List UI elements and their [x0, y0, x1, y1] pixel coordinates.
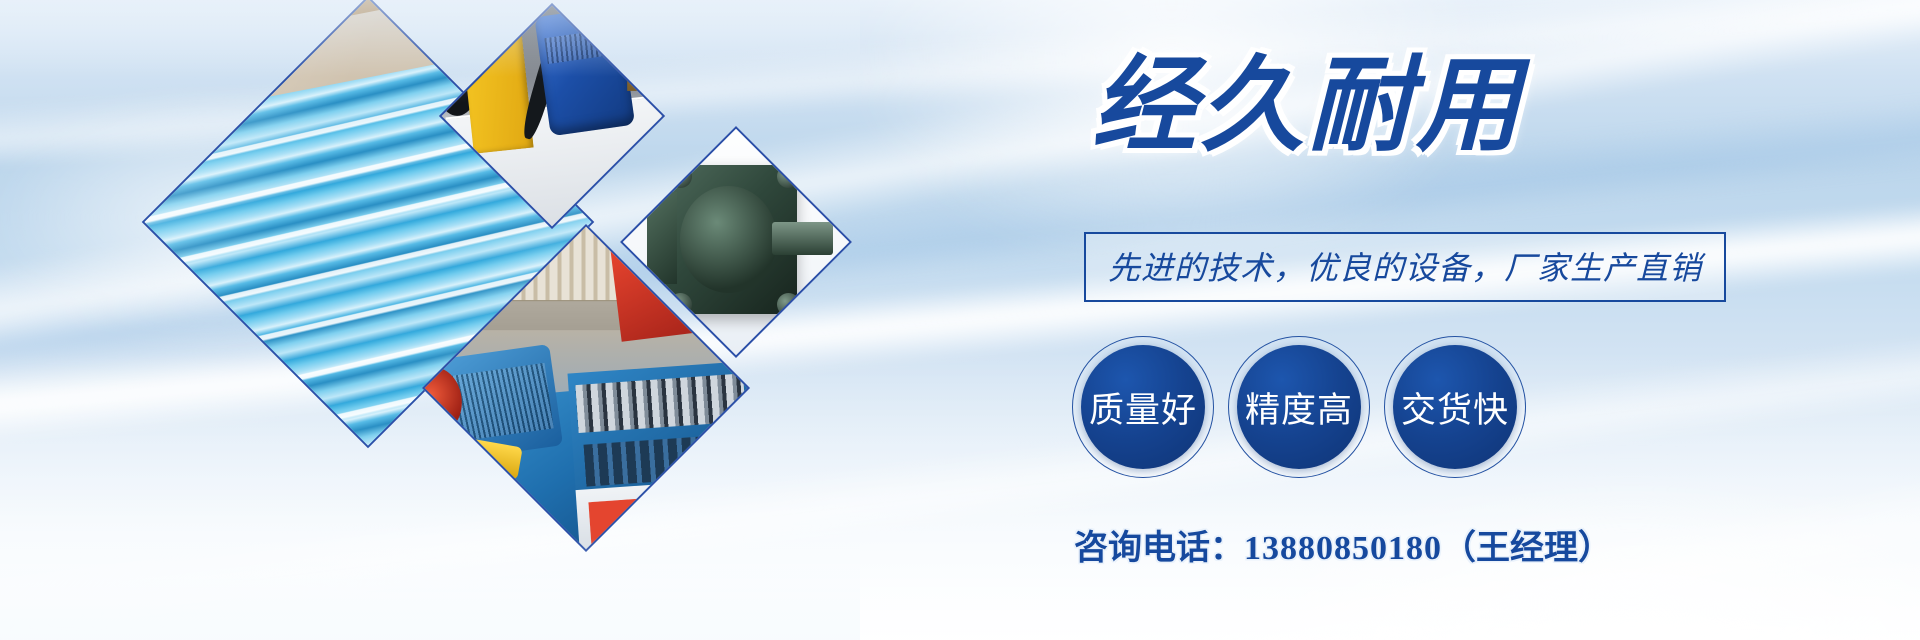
- pump-bolt: [777, 165, 800, 188]
- feature-badge-label: 质量好: [1089, 382, 1197, 433]
- diamond-photo-collage: [0, 0, 860, 640]
- yellow-safety-guard: [461, 23, 534, 153]
- subtitle-box: 先进的技术，优良的设备，厂家生产直销: [1084, 232, 1726, 302]
- feature-badge-delivery[interactable]: 交货快: [1384, 336, 1526, 478]
- gauge-panel: [576, 476, 750, 552]
- feature-badge-precision[interactable]: 精度高: [1228, 336, 1370, 478]
- pump-bolt: [777, 293, 800, 316]
- contact-phone-line: 咨询电话：13880850180（王经理）: [1074, 520, 1612, 569]
- subtitle-text: 先进的技术，优良的设备，厂家生产直销: [1108, 243, 1702, 289]
- control-panel: [627, 6, 665, 91]
- blue-electric-motor: [534, 6, 635, 136]
- banner-content: 经久耐用 先进的技术，优良的设备，厂家生产直销 质量好 精度高 交货快: [1060, 0, 1840, 640]
- headline-title: 经久耐用: [1092, 48, 1524, 164]
- pump-drive-shaft: [772, 222, 833, 255]
- feature-badge-quality[interactable]: 质量好: [1072, 336, 1214, 478]
- contact-label: 咨询电话：: [1074, 529, 1244, 567]
- feature-badges: 质量好 精度高 交货快: [1072, 336, 1526, 478]
- feature-badge-label: 精度高: [1245, 382, 1353, 433]
- contact-phone-number[interactable]: 13880850180: [1244, 530, 1442, 567]
- pump-flange: [680, 186, 777, 294]
- valve-manifold-block: [567, 360, 750, 496]
- promo-banner: 经久耐用 先进的技术，优良的设备，厂家生产直销 质量好 精度高 交货快: [0, 0, 1920, 640]
- contact-person: （王经理）: [1442, 529, 1612, 567]
- feature-badge-label: 交货快: [1401, 382, 1509, 433]
